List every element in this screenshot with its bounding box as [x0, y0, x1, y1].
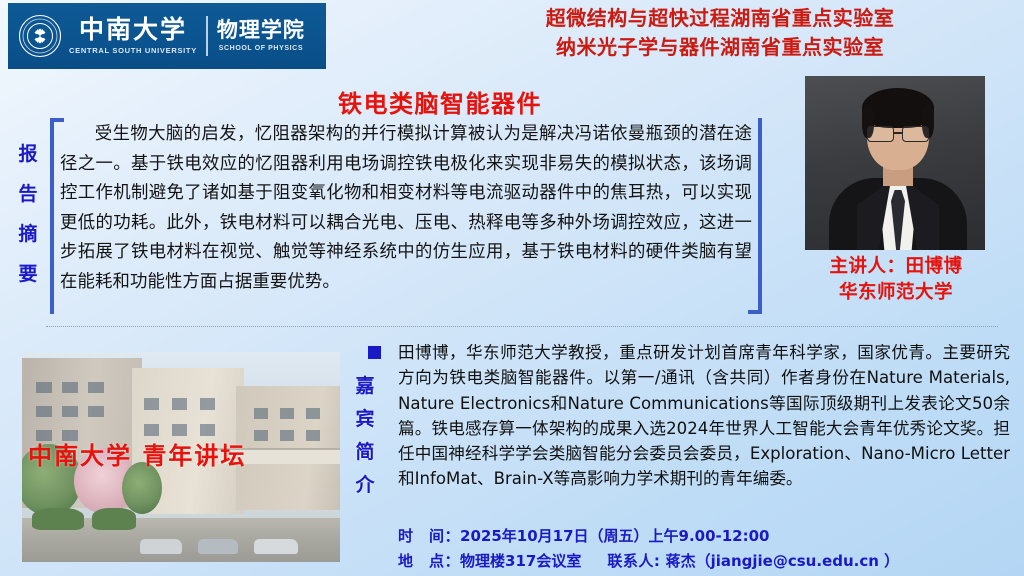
section-divider: [46, 326, 998, 327]
university-name-cn: 中南大学: [79, 17, 187, 42]
speaker-affiliation: 华东师范大学: [780, 280, 1012, 306]
event-place-row: 地 点：物理楼317会议室联系人: 蒋杰（jiangjie@csu.edu.cn…: [398, 549, 1012, 574]
lab-title-line-2: 纳米光子学与器件湖南省重点实验室: [420, 33, 1020, 62]
university-name-group: 中南大学 CENTRAL SOUTH UNIVERSITY: [69, 17, 197, 55]
logo-text-group: 中南大学 CENTRAL SOUTH UNIVERSITY 物理学院 SCHOO…: [69, 16, 305, 56]
university-logo-block: 中南大学 CENTRAL SOUTH UNIVERSITY 物理学院 SCHOO…: [8, 3, 326, 69]
campus-window: [88, 406, 104, 417]
campus-window: [36, 406, 52, 417]
bio-section-label: 嘉宾简介: [350, 370, 380, 502]
campus-window: [280, 408, 294, 419]
campus-window: [172, 424, 187, 436]
school-name-cn: 物理学院: [217, 20, 305, 41]
abstract-text: 受生物大脑的启发，忆阻器架构的并行模拟计算被认为是解决冯诺依曼瓶颈的潜在途径之一…: [60, 120, 752, 297]
campus-window: [254, 408, 268, 419]
time-value: 2025年10月17日（周五）上午9.00-12:00: [460, 527, 769, 545]
glasses-lens-right: [902, 126, 929, 142]
csu-emblem-icon: [18, 14, 62, 58]
campus-shrub: [92, 508, 136, 530]
lab-titles: 超微结构与超快过程湖南省重点实验室 纳米光子学与器件湖南省重点实验室: [420, 4, 1020, 62]
campus-window: [144, 424, 159, 436]
contact-value: 蒋杰（jiangjie@csu.edu.cn ）: [666, 552, 900, 570]
campus-window: [200, 398, 215, 410]
campus-car: [198, 539, 238, 554]
campus-window: [306, 408, 320, 419]
contact-label: 联系人:: [607, 552, 660, 570]
campus-car: [140, 539, 182, 554]
time-label: 时 间：: [398, 527, 460, 545]
school-name-en: SCHOOL OF PHYSICS: [219, 45, 303, 52]
speaker-portrait-photo: [805, 76, 985, 250]
campus-window: [62, 382, 78, 393]
campus-shrub: [32, 508, 84, 530]
event-details-footer: 时 间：2025年10月17日（周五）上午9.00-12:00 地 点：物理楼3…: [398, 524, 1012, 574]
talk-title: 铁电类脑智能器件: [120, 84, 760, 119]
place-label: 地 点：: [398, 552, 460, 570]
header-band: 中南大学 CENTRAL SOUTH UNIVERSITY 物理学院 SCHOO…: [0, 0, 1024, 72]
campus-window: [144, 398, 159, 410]
university-name-en: CENTRAL SOUTH UNIVERSITY: [69, 46, 197, 55]
campus-window: [200, 424, 215, 436]
speaker-bio-text: 田博博，华东师范大学教授，重点研发计划首席青年科学家，国家优青。主要研究方向为铁…: [398, 340, 1010, 492]
campus-photo: 中南大学 青年讲坛: [22, 352, 340, 562]
speaker-name-block: 主讲人：田博博 华东师范大学: [780, 254, 1012, 306]
campus-window: [62, 406, 78, 417]
lab-title-line-1: 超微结构与超快过程湖南省重点实验室: [420, 4, 1020, 33]
portrait-glasses: [867, 126, 929, 141]
place-value: 物理楼317会议室: [460, 552, 581, 570]
campus-window: [36, 382, 52, 393]
campus-overlay-text: 中南大学 青年讲坛: [28, 436, 334, 471]
event-time-row: 时 间：2025年10月17日（周五）上午9.00-12:00: [398, 524, 1012, 549]
campus-window: [88, 382, 104, 393]
logo-divider: [206, 16, 208, 56]
campus-window: [172, 398, 187, 410]
speaker-name: 主讲人：田博博: [780, 254, 1012, 280]
seminar-poster: 中南大学 CENTRAL SOUTH UNIVERSITY 物理学院 SCHOO…: [0, 0, 1024, 576]
bio-bullet-marker: [368, 346, 381, 359]
abstract-section-label: 报告摘要: [13, 134, 43, 294]
abstract-box: 受生物大脑的启发，忆阻器架构的并行模拟计算被认为是解决冯诺依曼瓶颈的潜在途径之一…: [50, 118, 762, 314]
campus-car: [254, 539, 298, 554]
school-name-group: 物理学院 SCHOOL OF PHYSICS: [217, 20, 305, 52]
glasses-lens-left: [867, 126, 894, 142]
